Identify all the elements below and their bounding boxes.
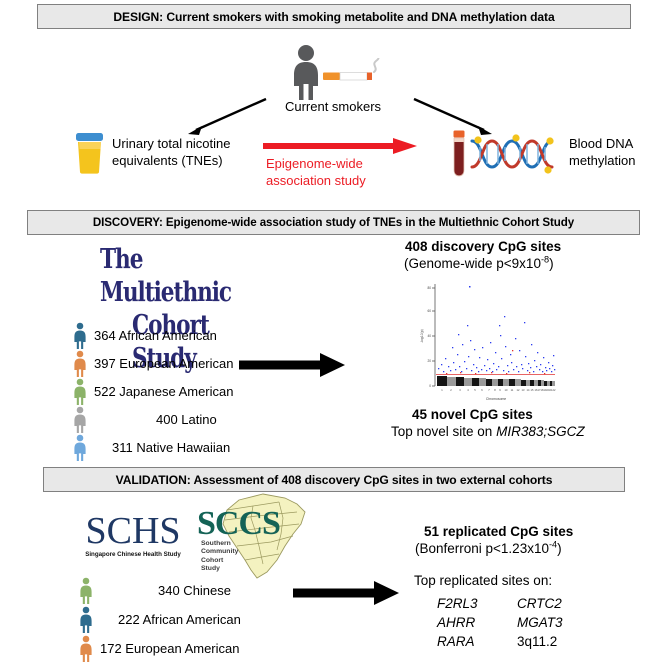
cohort-label: 311 Native Hawaiian [94, 440, 230, 455]
sccs-subtitle-line2: Community [201, 548, 238, 556]
person-icon [72, 434, 88, 461]
black-right-arrow-icon [237, 352, 347, 378]
cohort-label: 400 Latino [94, 412, 217, 427]
arrow-down-left-icon [180, 96, 270, 138]
person-icon [72, 378, 88, 405]
validation-section-banner: VALIDATION: Assessment of 408 discovery … [43, 467, 625, 492]
cohort-label: 222 African American [100, 612, 241, 627]
urine-specimen-cup-icon [74, 131, 105, 174]
discovery-result-title: 408 discovery CpG sites [405, 239, 561, 254]
blood-dna-label-line1: Blood DNA [569, 135, 635, 152]
blood-dna-label-line2: methylation [569, 152, 635, 169]
cigarette-icon [321, 58, 383, 88]
gene-name: RARA [437, 632, 517, 651]
ewas-arrow-label-line2: association study [266, 172, 366, 189]
cohort-label: 364 African American [94, 328, 217, 343]
sccs-subtitle-line1: Southern [201, 540, 238, 548]
discovery-result-subtitle: (Genome-wide p<9x10-8) [404, 256, 554, 271]
cohort-label: 172 European American [100, 641, 239, 656]
sccs-acronym: SCCS [197, 507, 280, 541]
cohort-row: 400 Latino [72, 406, 217, 433]
tne-label-line1: Urinary total nicotine [112, 135, 231, 152]
cohort-label: 397 European American [94, 356, 233, 371]
schs-acronym: SCHS [71, 512, 195, 550]
gene-row: F2RL3 CRTC2 [437, 594, 627, 613]
gene-name: AHRR [437, 613, 517, 632]
gene-row: AHRR MGAT3 [437, 613, 627, 632]
blood-dna-label: Blood DNA methylation [569, 135, 635, 169]
tne-label: Urinary total nicotine equivalents (TNEs… [112, 135, 231, 169]
sccs-logo: SCCS Southern Community Cohort Study [193, 490, 313, 582]
current-smokers-label: Current smokers [263, 99, 403, 114]
svg-text:Chromosome: Chromosome [486, 397, 506, 401]
cohort-row: 364 African American [72, 322, 217, 349]
ewas-arrow-label-line1: Epigenome-wide [266, 155, 366, 172]
dna-helix-icon [470, 133, 560, 175]
sccs-subtitle-line3: Cohort [201, 557, 238, 565]
svg-text:40: 40 [427, 334, 431, 338]
top-replicated-sites-header: Top replicated sites on: [414, 573, 552, 588]
gene-row: RARA 3q11.2 [437, 632, 627, 651]
svg-text:-log10(p): -log10(p) [420, 329, 424, 343]
svg-text:80: 80 [427, 286, 431, 290]
design-section-banner: DESIGN: Current smokers with smoking met… [37, 4, 631, 29]
novel-sites-title: 45 novel CpG sites [412, 407, 533, 422]
cohort-label: 340 Chinese [100, 583, 231, 598]
blood-vial-icon [451, 130, 467, 177]
tne-label-line2: equivalents (TNEs) [112, 152, 231, 169]
person-icon [78, 577, 94, 604]
black-right-arrow-icon [291, 580, 401, 606]
cohort-row: 172 European American [78, 635, 239, 662]
red-right-arrow-icon [261, 138, 421, 156]
cohort-row: 222 African American [78, 606, 241, 633]
gene-name: CRTC2 [517, 594, 617, 613]
sccs-subtitle-line4: Study [201, 565, 238, 573]
person-icon [289, 44, 323, 100]
manhattan-plot: 0 20 40 60 80 -log10(p) Chromosome [412, 278, 560, 403]
cohort-label: 522 Japanese American [94, 384, 233, 399]
person-icon [78, 606, 94, 633]
mec-logo-line1: The Multiethnic [100, 243, 260, 309]
genomewide-post: ) [549, 256, 554, 271]
sccs-subtitle: Southern Community Cohort Study [201, 540, 238, 574]
svg-text:20: 20 [427, 359, 431, 363]
bonferroni-pre: (Bonferroni p<1.23x10 [415, 541, 549, 556]
bonferroni-post: ) [557, 541, 562, 556]
cohort-row: 397 European American [72, 350, 233, 377]
svg-text:60: 60 [427, 309, 431, 313]
bonferroni-threshold-label: (Bonferroni p<1.23x10-4) [415, 541, 562, 556]
cytoband-name: 3q11.2 [517, 632, 617, 651]
schs-logo: SCHS Singapore Chinese Health Study [71, 512, 195, 562]
top-novel-prefix: Top novel site on [391, 424, 496, 439]
multiethnic-cohort-study-logo: The Multiethnic Cohort Study [100, 243, 300, 315]
genomewide-pre: (Genome-wide p<9x10 [404, 256, 541, 271]
genomewide-exponent: -8 [541, 255, 549, 265]
top-replicated-genes-table: F2RL3 CRTC2 AHRR MGAT3 RARA 3q11.2 [437, 594, 627, 651]
gene-name: MGAT3 [517, 613, 617, 632]
cohort-row: 522 Japanese American [72, 378, 233, 405]
validation-result-title: 51 replicated CpG sites [424, 524, 573, 539]
svg-text:0: 0 [429, 384, 431, 388]
gene-name: F2RL3 [437, 594, 517, 613]
schs-subtitle: Singapore Chinese Health Study [71, 551, 195, 558]
top-novel-gene: MIR383;SGCZ [496, 424, 585, 439]
person-icon [72, 406, 88, 433]
person-icon [72, 322, 88, 349]
scientific-figure: DESIGN: Current smokers with smoking met… [0, 0, 664, 664]
top-novel-site-label: Top novel site on MIR383;SGCZ [391, 424, 585, 439]
ewas-arrow-label: Epigenome-wide association study [266, 155, 366, 189]
cohort-row: 340 Chinese [78, 577, 231, 604]
person-icon [72, 350, 88, 377]
bonferroni-exponent: -4 [549, 540, 557, 550]
discovery-section-banner: DISCOVERY: Epigenome-wide association st… [27, 210, 640, 235]
cohort-row: 311 Native Hawaiian [72, 434, 230, 461]
person-icon [78, 635, 94, 662]
